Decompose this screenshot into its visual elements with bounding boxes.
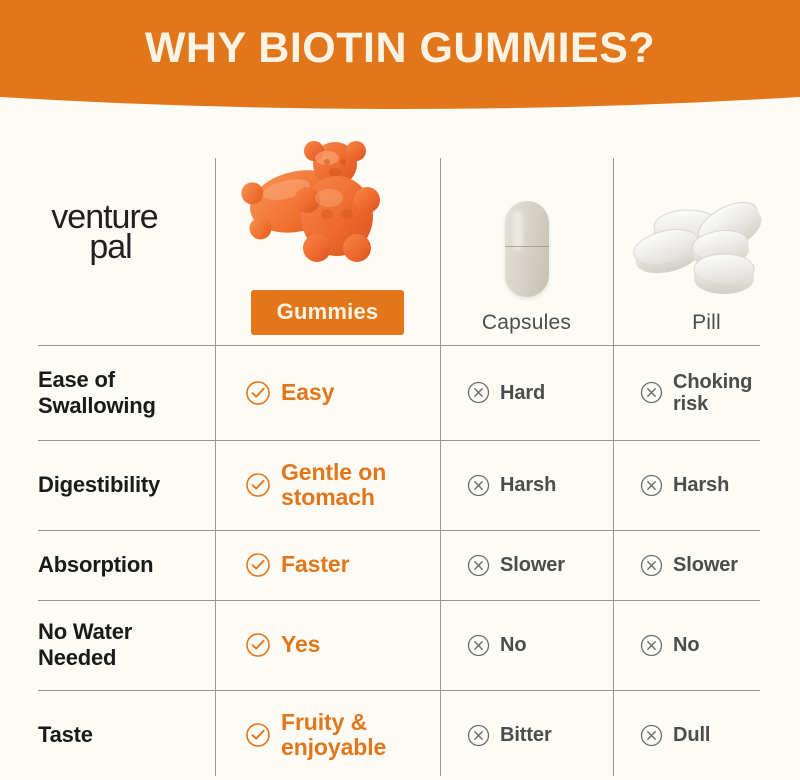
check-circle-icon xyxy=(245,722,271,748)
table-row: Absorption Faster Slower xyxy=(0,530,800,600)
cell-gummies: Fruity &enjoyable xyxy=(215,690,440,780)
row-label-text: Ease ofSwallowing xyxy=(38,367,156,418)
row-label-text: Digestibility xyxy=(38,472,160,498)
row-label: Absorption xyxy=(0,530,215,600)
table-row: Taste Fruity &enjoyable Bitter xyxy=(0,690,800,780)
cell-gummies: Faster xyxy=(215,530,440,600)
cell-capsules: No xyxy=(440,600,613,690)
x-circle-icon xyxy=(467,724,490,747)
check-circle-icon xyxy=(245,632,271,658)
cell-gummies: Gentle onstomach xyxy=(215,440,440,530)
row-label-text: Taste xyxy=(38,722,93,748)
cell-pill: Dull xyxy=(613,690,800,780)
check-circle-icon xyxy=(245,472,271,498)
table-row: Digestibility Gentle onstomach Harsh xyxy=(0,440,800,530)
cell-value: Hard xyxy=(500,382,545,404)
x-circle-icon xyxy=(467,554,490,577)
header-banner: WHY BIOTIN GUMMIES? xyxy=(0,0,800,120)
cell-value: Yes xyxy=(281,632,320,657)
cell-capsules: Harsh xyxy=(440,440,613,530)
cell-pill: No xyxy=(613,600,800,690)
column-header-capsules: Capsules xyxy=(440,120,613,345)
row-label: Taste xyxy=(0,690,215,780)
cell-value: No xyxy=(500,634,526,656)
x-circle-icon xyxy=(640,554,663,577)
comparison-table: venture pal xyxy=(0,120,800,776)
cell-value: No xyxy=(673,634,699,656)
logo-line-2: pal xyxy=(89,233,131,262)
check-circle-icon xyxy=(245,552,271,578)
row-label-text: No WaterNeeded xyxy=(38,619,132,670)
check-circle-icon xyxy=(245,380,271,406)
x-circle-icon xyxy=(640,474,663,497)
x-circle-icon xyxy=(640,634,663,657)
column-header-gummies: Gummies xyxy=(215,120,440,345)
cell-pill: Chokingrisk xyxy=(613,345,800,440)
cell-value: Harsh xyxy=(500,474,556,496)
x-circle-icon xyxy=(640,381,663,404)
table-row: Ease ofSwallowing Easy Hard xyxy=(0,345,800,440)
cell-value: Slower xyxy=(673,554,738,576)
cell-value: Gentle onstomach xyxy=(281,460,386,511)
cell-value: Bitter xyxy=(500,724,552,746)
row-label-text: Absorption xyxy=(38,552,153,578)
cell-value: Slower xyxy=(500,554,565,576)
column-label-gummies: Gummies xyxy=(251,290,405,335)
pill-tablets-icon xyxy=(632,147,782,297)
cell-value: Faster xyxy=(281,552,349,577)
cell-gummies: Easy xyxy=(215,345,440,440)
row-label: No WaterNeeded xyxy=(0,600,215,690)
capsule-icon xyxy=(505,147,549,297)
x-circle-icon xyxy=(640,724,663,747)
cell-pill: Slower xyxy=(613,530,800,600)
gummy-bears-icon xyxy=(233,126,423,276)
row-label: Ease ofSwallowing xyxy=(0,345,215,440)
cell-capsules: Hard xyxy=(440,345,613,440)
x-circle-icon xyxy=(467,474,490,497)
page-title: WHY BIOTIN GUMMIES? xyxy=(0,0,800,97)
x-circle-icon xyxy=(467,634,490,657)
cell-gummies: Yes xyxy=(215,600,440,690)
cell-capsules: Bitter xyxy=(440,690,613,780)
row-label: Digestibility xyxy=(0,440,215,530)
cell-value: Fruity &enjoyable xyxy=(281,710,386,761)
cell-value: Harsh xyxy=(673,474,729,496)
column-header-pill: Pill xyxy=(613,120,800,345)
cell-pill: Harsh xyxy=(613,440,800,530)
cell-capsules: Slower xyxy=(440,530,613,600)
brand-logo: venture pal xyxy=(0,120,215,345)
table-header-row: venture pal xyxy=(0,120,800,345)
cell-value: Dull xyxy=(673,724,710,746)
column-label-pill: Pill xyxy=(692,311,721,335)
cell-value: Easy xyxy=(281,380,334,405)
cell-value: Chokingrisk xyxy=(673,371,752,415)
table-row: No WaterNeeded Yes No xyxy=(0,600,800,690)
x-circle-icon xyxy=(467,381,490,404)
column-label-capsules: Capsules xyxy=(482,311,571,335)
